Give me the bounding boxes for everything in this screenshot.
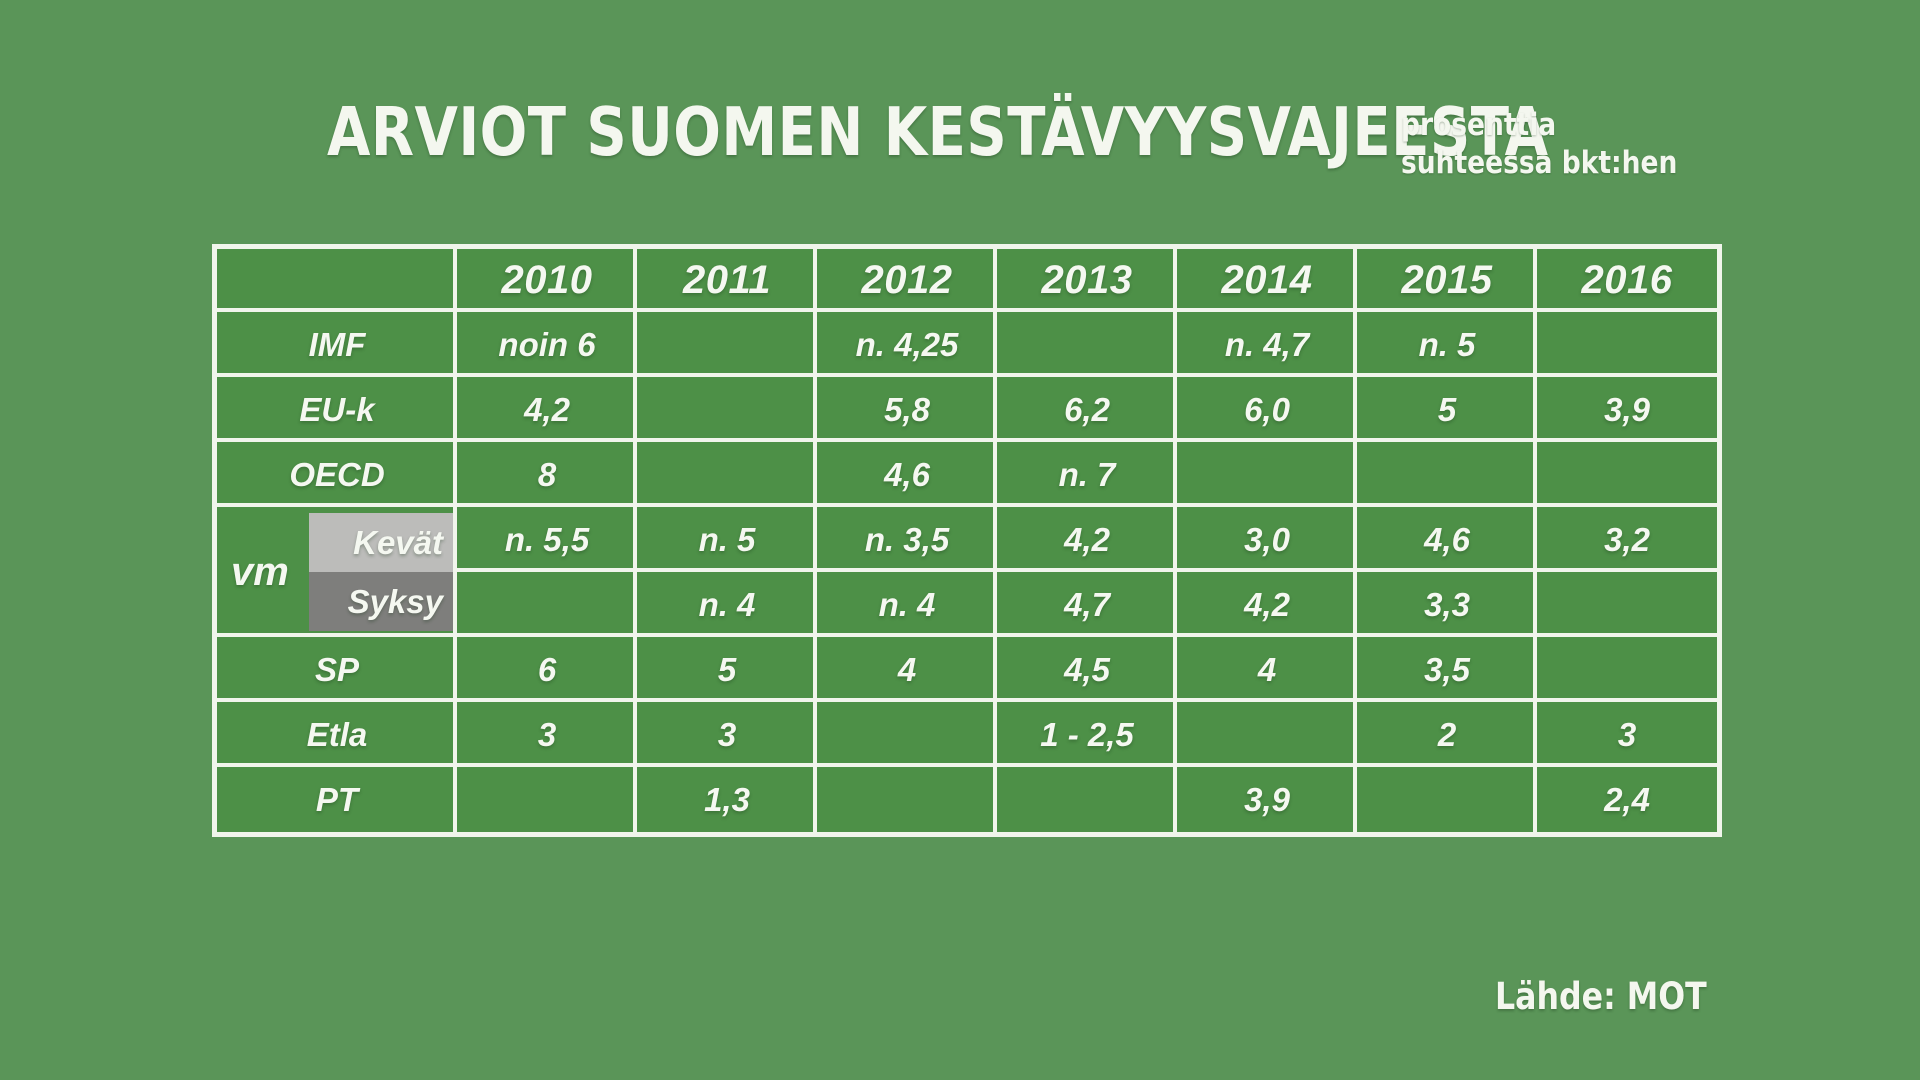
cell-etla-2013: 1 - 2,5 <box>997 702 1177 767</box>
cell-etla-2015: 2 <box>1357 702 1537 767</box>
cell-imf-2016 <box>1537 312 1717 377</box>
cell-imf-2015: n. 5 <box>1357 312 1537 377</box>
cell-vm-kevat-2016: 3,2 <box>1537 507 1717 572</box>
cell-oecd-2014 <box>1177 442 1357 507</box>
cell-vm-kevat-2013: 4,2 <box>997 507 1177 572</box>
table-row: EU-k 4,2 5,8 6,2 6,0 5 3,9 <box>217 377 1717 442</box>
cell-vm-kevat-2010: n. 5,5 <box>457 507 637 572</box>
table-row-vm-kevat: vm Kevät Syksy n. 5,5 n. 5 n. 3,5 4,2 3,… <box>217 507 1717 572</box>
cell-pt-2011: 1,3 <box>637 767 817 832</box>
cell-sp-2016 <box>1537 637 1717 702</box>
cell-sp-2013: 4,5 <box>997 637 1177 702</box>
cell-euk-2010: 4,2 <box>457 377 637 442</box>
estimates-table: 2010 2011 2012 2013 2014 2015 2016 IMF n… <box>212 244 1722 837</box>
cell-vm-syksy-2011: n. 4 <box>637 572 817 637</box>
cell-vm-syksy-2013: 4,7 <box>997 572 1177 637</box>
cell-oecd-2010: 8 <box>457 442 637 507</box>
cell-imf-2014: n. 4,7 <box>1177 312 1357 377</box>
column-header-2010: 2010 <box>457 249 637 312</box>
cell-oecd-2011 <box>637 442 817 507</box>
table-row: Etla 3 3 1 - 2,5 2 3 <box>217 702 1717 767</box>
column-header-2016: 2016 <box>1537 249 1717 312</box>
cell-oecd-2016 <box>1537 442 1717 507</box>
column-header-2012: 2012 <box>817 249 997 312</box>
cell-imf-2013 <box>997 312 1177 377</box>
row-label-pt: PT <box>217 767 457 832</box>
column-header-2013: 2013 <box>997 249 1177 312</box>
row-label-etla: Etla <box>217 702 457 767</box>
cell-vm-kevat-2014: 3,0 <box>1177 507 1357 572</box>
column-header-2014: 2014 <box>1177 249 1357 312</box>
cell-sp-2015: 3,5 <box>1357 637 1537 702</box>
source-note: Lähde: MOT <box>1495 975 1707 1018</box>
cell-vm-kevat-2012: n. 3,5 <box>817 507 997 572</box>
row-label-imf: IMF <box>217 312 457 377</box>
cell-vm-syksy-2016 <box>1537 572 1717 637</box>
cell-etla-2014 <box>1177 702 1357 767</box>
cell-vm-kevat-2011: n. 5 <box>637 507 817 572</box>
table-row: PT 1,3 3,9 2,4 <box>217 767 1717 832</box>
cell-vm-syksy-2010 <box>457 572 637 637</box>
subtitle-line-2: suhteessa bkt:hen <box>1401 144 1715 182</box>
cell-pt-2015 <box>1357 767 1537 832</box>
title-block: ARVIOT SUOMEN KESTÄVYYSVAJEESTA prosentt… <box>0 96 1920 196</box>
page-title: ARVIOT SUOMEN KESTÄVYYSVAJEESTA <box>327 96 1548 168</box>
cell-vm-syksy-2015: 3,3 <box>1357 572 1537 637</box>
cell-vm-syksy-2012: n. 4 <box>817 572 997 637</box>
column-header-2015: 2015 <box>1357 249 1537 312</box>
cell-sp-2010: 6 <box>457 637 637 702</box>
row-label-vm-text: vm <box>217 513 309 631</box>
cell-sp-2011: 5 <box>637 637 817 702</box>
cell-etla-2012 <box>817 702 997 767</box>
cell-euk-2013: 6,2 <box>997 377 1177 442</box>
row-label-sp: SP <box>217 637 457 702</box>
cell-imf-2012: n. 4,25 <box>817 312 997 377</box>
cell-pt-2013 <box>997 767 1177 832</box>
table-row: IMF noin 6 n. 4,25 n. 4,7 n. 5 <box>217 312 1717 377</box>
cell-etla-2010: 3 <box>457 702 637 767</box>
subtitle-line-1: prosenttia <box>1401 106 1715 144</box>
cell-pt-2012 <box>817 767 997 832</box>
cell-oecd-2015 <box>1357 442 1537 507</box>
cell-pt-2010 <box>457 767 637 832</box>
cell-etla-2016: 3 <box>1537 702 1717 767</box>
row-label-eu-k: EU-k <box>217 377 457 442</box>
cell-pt-2014: 3,9 <box>1177 767 1357 832</box>
cell-sp-2012: 4 <box>817 637 997 702</box>
subtitle: prosenttia suhteessa bkt:hen <box>1401 106 1715 182</box>
table-row: SP 6 5 4 4,5 4 3,5 <box>217 637 1717 702</box>
row-label-oecd: OECD <box>217 442 457 507</box>
cell-vm-kevat-2015: 4,6 <box>1357 507 1537 572</box>
cell-imf-2011 <box>637 312 817 377</box>
cell-vm-syksy-2014: 4,2 <box>1177 572 1357 637</box>
cell-euk-2016: 3,9 <box>1537 377 1717 442</box>
table-header-row: 2010 2011 2012 2013 2014 2015 2016 <box>217 249 1717 312</box>
table-corner-cell <box>217 249 457 312</box>
row-label-vm: vm Kevät Syksy <box>217 507 457 637</box>
cell-euk-2012: 5,8 <box>817 377 997 442</box>
cell-euk-2011 <box>637 377 817 442</box>
cell-pt-2016: 2,4 <box>1537 767 1717 832</box>
table-row: OECD 8 4,6 n. 7 <box>217 442 1717 507</box>
cell-oecd-2012: 4,6 <box>817 442 997 507</box>
row-label-vm-syksy: Syksy <box>309 572 457 631</box>
column-header-2011: 2011 <box>637 249 817 312</box>
cell-imf-2010: noin 6 <box>457 312 637 377</box>
row-label-vm-kevat: Kevät <box>309 513 457 572</box>
cell-euk-2014: 6,0 <box>1177 377 1357 442</box>
cell-oecd-2013: n. 7 <box>997 442 1177 507</box>
cell-etla-2011: 3 <box>637 702 817 767</box>
cell-euk-2015: 5 <box>1357 377 1537 442</box>
cell-sp-2014: 4 <box>1177 637 1357 702</box>
